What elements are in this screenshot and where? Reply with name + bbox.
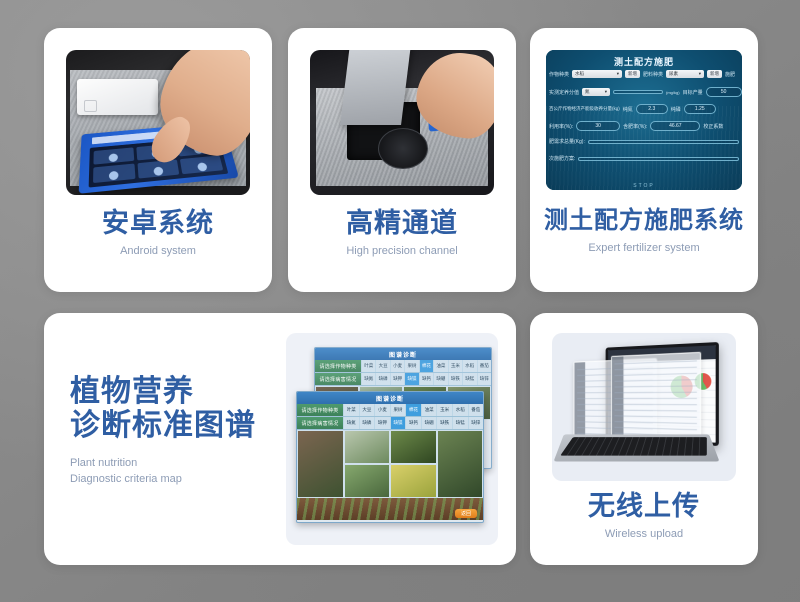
white-module-panel xyxy=(77,79,158,115)
channel-device-photo xyxy=(310,50,494,195)
fertilizer-row-crop: 作物种类 水稻▾ 新增 肥料种类 尿素▾ 新增 施肥 xyxy=(549,70,739,78)
symptom-image[interactable] xyxy=(437,430,484,498)
card-title-cn: 高精通道 xyxy=(288,208,516,238)
symptom-image-grid xyxy=(297,430,483,498)
crop-option[interactable]: 玉米 xyxy=(436,404,452,416)
fertilization-plan-input[interactable] xyxy=(578,157,739,161)
crop-selector-label: 请选择作物种类 xyxy=(297,404,343,416)
correction-factor-label: 校正系数 xyxy=(703,123,723,130)
fertilizer-row-absorption: 百公斤作物经济产能吸收养分量(kg) 纯氮 2.3 纯磷 1.25 xyxy=(549,104,739,114)
channel-card-titles: 高精通道 High precision channel xyxy=(288,208,516,259)
plant-card-titles: 植物营养 诊断标准图谱 Plant nutrition Diagnostic c… xyxy=(70,375,256,487)
absorption-label: 百公斤作物经济产能吸收养分量(kg) xyxy=(549,106,620,112)
crop-options: 叶菜 大豆 小麦 果树 棉花 油菜 玉米 水稻 番茄 xyxy=(343,404,483,416)
crop-selector-row: 请选择作物种类 叶菜 大豆 小麦 果树 棉花 油菜 玉米 水稻 番茄 xyxy=(315,360,491,373)
card-title-en-line1: Plant nutrition xyxy=(70,456,256,471)
card-title-cn-line1: 植物营养 xyxy=(70,375,256,409)
diagnosis-window-front[interactable]: 图谱诊断 请选择作物种类 叶菜 大豆 小麦 果树 棉花 油菜 玉米 水稻 番茄 xyxy=(296,391,484,523)
crop-option[interactable]: 番茄 xyxy=(468,404,484,416)
utilization-rate-value[interactable]: 30 xyxy=(576,121,620,131)
symptom-image[interactable] xyxy=(344,430,391,464)
fertilizer-content-label: 含肥率(%): xyxy=(623,123,647,130)
condition-option[interactable]: 缺铁 xyxy=(448,373,462,385)
condition-option[interactable]: 缺锰 xyxy=(452,417,468,429)
fertilization-plan-label: 次施肥方案: xyxy=(549,155,575,162)
condition-option[interactable]: 缺磷 xyxy=(359,417,375,429)
laptop-keyboard xyxy=(560,437,706,455)
condition-option[interactable]: 缺锰 xyxy=(462,373,476,385)
condition-option[interactable]: 缺钙 xyxy=(405,417,421,429)
condition-option-selected[interactable]: 缺镁 xyxy=(404,373,418,385)
crop-option[interactable]: 小麦 xyxy=(390,360,404,372)
symptom-image[interactable] xyxy=(344,464,391,498)
feature-card-android[interactable]: 安卓系统 Android system xyxy=(44,28,272,292)
crop-option[interactable]: 果树 xyxy=(404,360,418,372)
crop-option[interactable]: 果树 xyxy=(390,404,406,416)
pure-phosphorus-value[interactable]: 1.25 xyxy=(684,104,716,114)
crop-option[interactable]: 水稻 xyxy=(452,404,468,416)
laptop-dashboard-photo xyxy=(552,333,736,481)
condition-option[interactable]: 缺磷 xyxy=(375,373,389,385)
crop-option[interactable]: 油菜 xyxy=(421,404,437,416)
fertilizer-row-rates: 利用率(%): 30 含肥率(%): 46.67 校正系数 xyxy=(549,121,739,131)
floating-rows xyxy=(615,356,697,442)
symptom-image[interactable] xyxy=(297,430,344,498)
fertilizer-type-select[interactable]: 尿素▾ xyxy=(666,70,704,78)
crop-options: 叶菜 大豆 小麦 果树 棉花 油菜 玉米 水稻 番茄 xyxy=(361,360,491,372)
floating-screen-front xyxy=(611,352,701,447)
condition-option[interactable]: 缺钙 xyxy=(419,373,433,385)
fertilizer-row-plan: 次施肥方案: xyxy=(549,155,739,162)
condition-option[interactable]: 缺铁 xyxy=(436,417,452,429)
crop-option[interactable]: 小麦 xyxy=(374,404,390,416)
fertilizer-screen-title: 测土配方施肥 xyxy=(546,55,742,68)
wireless-card-titles: 无线上传 Wireless upload xyxy=(530,491,758,542)
measured-unit: (mg/kg) xyxy=(666,90,680,95)
crop-option[interactable]: 玉米 xyxy=(448,360,462,372)
diagnosis-title: 图谱诊断 xyxy=(297,392,483,404)
fertilizer-card-titles: 测土配方施肥系统 Expert fertilizer system xyxy=(530,208,758,256)
diagnosis-screens-photo: 图谱诊断 请选择作物种类 叶菜 大豆 小麦 果树 棉花 油菜 玉米 水稻 番茄 xyxy=(286,333,498,545)
condition-option[interactable]: 缺氮 xyxy=(343,417,359,429)
condition-option[interactable]: 缺硼 xyxy=(421,417,437,429)
screen-footer-text: STOP xyxy=(546,183,742,189)
channel-lid xyxy=(340,50,411,125)
target-yield-input[interactable]: 50 xyxy=(706,87,742,97)
condition-option[interactable]: 缺锌 xyxy=(468,417,484,429)
crop-option[interactable]: 番茄 xyxy=(477,360,491,372)
crop-option-selected[interactable]: 棉花 xyxy=(419,360,433,372)
pure-nitrogen-value[interactable]: 2.3 xyxy=(636,104,668,114)
symptom-image[interactable] xyxy=(390,464,437,498)
nutrient-select[interactable]: 氮▾ xyxy=(582,88,610,96)
measured-nutrient-label: 实测定养分值 xyxy=(549,89,579,96)
card-title-en: High precision channel xyxy=(288,244,516,259)
feature-card-wireless-upload[interactable]: 无线上传 Wireless upload xyxy=(530,313,758,565)
card-title-cn: 测土配方施肥系统 xyxy=(530,208,758,235)
card-title-en: Wireless upload xyxy=(530,527,758,542)
card-title-en-line2: Diagnostic criteria map xyxy=(70,472,256,487)
pure-nitrogen-label: 纯氮 xyxy=(623,106,633,113)
condition-option[interactable]: 缺锌 xyxy=(477,373,491,385)
pure-phosphorus-label: 纯磷 xyxy=(671,106,681,113)
condition-selector-row: 请选择病害情况 缺氮 缺磷 缺钾 缺镁 缺钙 缺硼 缺铁 缺锰 缺锌 xyxy=(315,373,491,386)
condition-selector-label: 请选择病害情况 xyxy=(315,373,361,385)
fertilizer-row-total: 肥需求总量(Kg): xyxy=(549,138,739,145)
fertilizer-add-button[interactable]: 新增 xyxy=(707,70,722,78)
condition-option[interactable]: 缺钾 xyxy=(390,373,404,385)
measured-value-input[interactable] xyxy=(613,90,663,94)
utilization-rate-label: 利用率(%): xyxy=(549,123,573,130)
apply-fertilizer-label: 施肥 xyxy=(725,71,735,78)
feature-card-plant-nutrition[interactable]: 植物营养 诊断标准图谱 Plant nutrition Diagnostic c… xyxy=(44,313,516,565)
condition-option[interactable]: 缺硼 xyxy=(433,373,447,385)
condition-options: 缺氮 缺磷 缺钾 缺镁 缺钙 缺硼 缺铁 缺锰 缺锌 xyxy=(343,417,483,429)
symptom-image[interactable] xyxy=(390,430,437,464)
card-title-cn: 无线上传 xyxy=(530,491,758,521)
total-demand-label: 肥需求总量(Kg): xyxy=(549,138,585,145)
crop-option[interactable]: 油菜 xyxy=(433,360,447,372)
card-title-cn: 安卓系统 xyxy=(44,208,272,238)
crop-type-select[interactable]: 水稻▾ xyxy=(572,70,622,78)
crop-selector-row: 请选择作物种类 叶菜 大豆 小麦 果树 棉花 油菜 玉米 水稻 番茄 xyxy=(297,404,483,417)
return-button[interactable]: 返回 xyxy=(455,509,477,518)
fertilizer-row-measured: 实测定养分值 氮▾ (mg/kg) 目标产量 50 xyxy=(549,87,739,97)
condition-selector-label: 请选择病害情况 xyxy=(297,417,343,429)
crop-add-button[interactable]: 新增 xyxy=(625,70,640,78)
condition-option[interactable]: 缺钾 xyxy=(374,417,390,429)
crop-option[interactable]: 叶菜 xyxy=(361,360,375,372)
crop-option[interactable]: 叶菜 xyxy=(343,404,359,416)
crop-option[interactable]: 大豆 xyxy=(375,360,389,372)
total-demand-input[interactable] xyxy=(588,140,739,144)
condition-option[interactable]: 缺氮 xyxy=(361,373,375,385)
crop-option-selected[interactable]: 棉花 xyxy=(405,404,421,416)
target-yield-label: 目标产量 xyxy=(683,89,703,96)
android-card-titles: 安卓系统 Android system xyxy=(44,208,272,259)
fertilizer-content-value[interactable]: 46.67 xyxy=(650,121,700,131)
condition-option-selected[interactable]: 缺镁 xyxy=(390,417,406,429)
feature-card-grid: 安卓系统 Android system 高精通道 High precision … xyxy=(0,0,800,602)
crop-option[interactable]: 大豆 xyxy=(359,404,375,416)
card-title-en: Expert fertilizer system xyxy=(530,241,758,256)
condition-options: 缺氮 缺磷 缺钾 缺镁 缺钙 缺硼 缺铁 缺锰 缺锌 xyxy=(361,373,491,385)
feature-card-channel[interactable]: 高精通道 High precision channel xyxy=(288,28,516,292)
diagnosis-title: 图谱诊断 xyxy=(315,348,491,360)
android-device-photo xyxy=(66,50,250,195)
condition-selector-row: 请选择病害情况 缺氮 缺磷 缺钾 缺镁 缺钙 缺硼 缺铁 缺锰 缺锌 xyxy=(297,417,483,430)
crop-option[interactable]: 水稻 xyxy=(462,360,476,372)
feature-card-fertilizer[interactable]: 测土配方施肥 作物种类 水稻▾ 新增 肥料种类 尿素▾ 新增 施肥 实测定养分值… xyxy=(530,28,758,292)
fertilizer-software-screenshot: 测土配方施肥 作物种类 水稻▾ 新增 肥料种类 尿素▾ 新增 施肥 实测定养分值… xyxy=(546,50,742,190)
card-title-en: Android system xyxy=(44,244,272,259)
crop-selector-label: 请选择作物种类 xyxy=(315,360,361,372)
fertilizer-type-label: 肥料种类 xyxy=(643,71,663,78)
crop-type-label: 作物种类 xyxy=(549,71,569,78)
card-title-cn-line2: 诊断标准图谱 xyxy=(70,409,256,443)
